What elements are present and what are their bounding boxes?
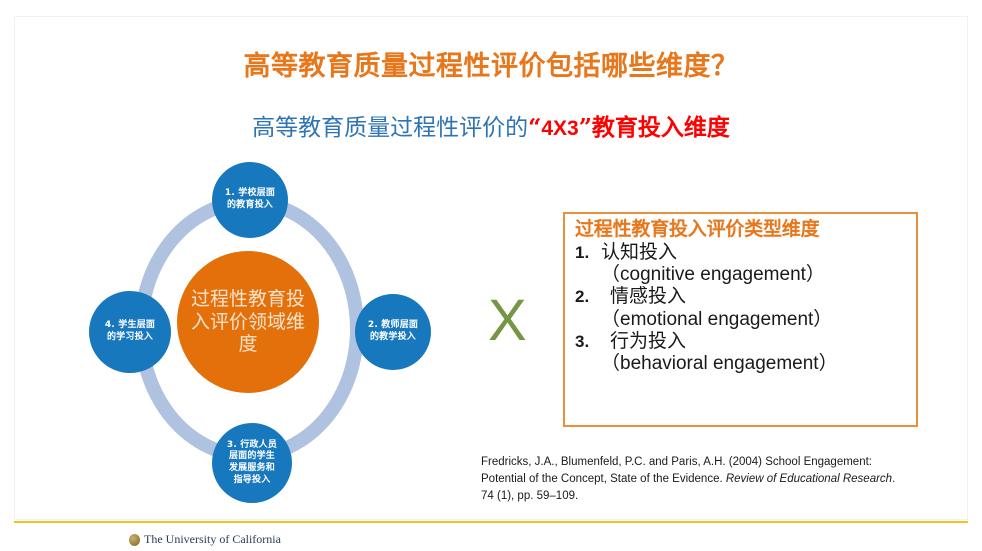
multiply-symbol: X [488, 292, 527, 350]
list-item-label-en: （behavioral engagement） [575, 353, 910, 374]
type-dimension-box: 过程性教育投入评价类型维度 1. 认知投入 （cognitive engagem… [563, 212, 918, 427]
cycle-hub-label: 过程性教育投入评价领域维度 [191, 288, 305, 355]
list-item-number: 3. [575, 332, 601, 351]
page-title: 高等教育质量过程性评价包括哪些维度？ [0, 44, 982, 83]
list-item-number: 1. [575, 243, 601, 262]
list-item-label-en: （emotional engagement） [575, 309, 910, 330]
citation-journal: Review of Educational Research [726, 473, 892, 485]
subtitle-highlight: 4X3 [541, 117, 578, 140]
list-item: 1. 认知投入 [575, 242, 910, 263]
footer-logo: The University of California [129, 532, 281, 547]
list-item-label-cn: 认知投入 [601, 242, 677, 263]
cycle-diagram: 1. 学校层面 的教育投入 2. 教师层面 的教学投入 3. 行政人员 层面的学… [80, 155, 400, 505]
list-item-label-cn: 行为投入 [601, 331, 686, 352]
list-item: 3. 行为投入 [575, 331, 910, 352]
list-item: 2. 情感投入 [575, 286, 910, 307]
cycle-hub[interactable]: 过程性教育投入评价领域维度 [177, 251, 319, 393]
citation-line-2-pre: Potential of the Concept, State of the E… [481, 473, 726, 485]
list-item-label-en: （cognitive engagement） [575, 264, 910, 285]
cycle-node-student[interactable]: 4. 学生层面 的学习投入 [89, 291, 171, 373]
cycle-node-admin[interactable]: 3. 行政人员 层面的学生 发展服务和 指导投入 [212, 423, 292, 503]
cycle-node-school-label: 1. 学校层面 的教育投入 [225, 188, 275, 211]
subtitle-suffix: 教育投入维度 [592, 114, 730, 141]
cycle-node-teacher[interactable]: 2. 教师层面 的教学投入 [355, 294, 431, 370]
citation-line-2-post: . [892, 473, 895, 485]
footer-divider [14, 521, 968, 523]
cycle-node-teacher-label: 2. 教师层面 的教学投入 [368, 320, 418, 343]
type-dimension-heading: 过程性教育投入评价类型维度 [575, 219, 910, 241]
cycle-node-student-label: 4. 学生层面 的学习投入 [105, 320, 155, 343]
footer-organization-label: The University of California [144, 532, 281, 547]
citation-line-1: Fredricks, J.A., Blumenfeld, P.C. and Pa… [481, 454, 951, 471]
cycle-node-admin-label: 3. 行政人员 层面的学生 发展服务和 指导投入 [227, 440, 277, 487]
cycle-node-school[interactable]: 1. 学校层面 的教育投入 [212, 162, 288, 238]
subtitle-quote-close: ” [579, 114, 592, 141]
citation-block: Fredricks, J.A., Blumenfeld, P.C. and Pa… [481, 454, 951, 505]
page-subtitle: 高等教育质量过程性评价的“4X3”教育投入维度 [0, 108, 982, 142]
citation-line-2: Potential of the Concept, State of the E… [481, 471, 951, 488]
subtitle-prefix: 高等教育质量过程性评价的 [252, 115, 528, 141]
list-item-label-cn: 情感投入 [601, 286, 686, 307]
university-seal-icon [129, 534, 140, 546]
subtitle-quote-open: “ [528, 114, 541, 141]
list-item-number: 2. [575, 287, 601, 306]
citation-line-3: 74 (1), pp. 59–109. [481, 488, 951, 505]
slide-canvas: 高等教育质量过程性评价包括哪些维度？ 高等教育质量过程性评价的“4X3”教育投入… [0, 0, 982, 551]
